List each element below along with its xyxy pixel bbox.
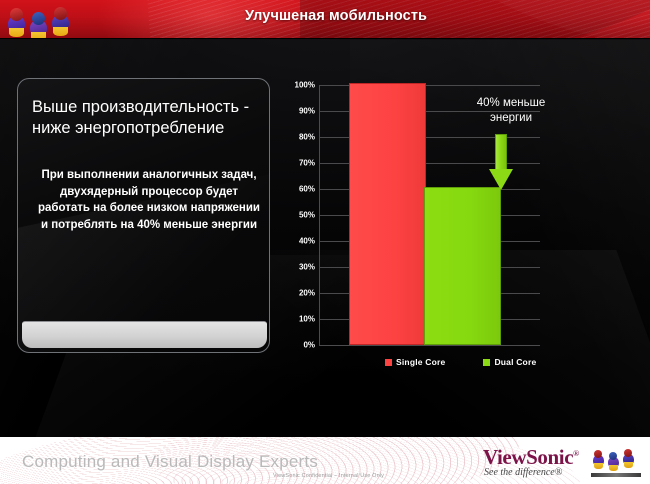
bird-right-icon bbox=[52, 7, 71, 38]
panel-base-bar bbox=[22, 321, 267, 348]
arrow-shaft bbox=[495, 134, 507, 170]
y-axis-tick-label: 0% bbox=[285, 341, 319, 350]
legend-label: Single Core bbox=[396, 357, 445, 367]
registered-mark: ® bbox=[573, 449, 579, 458]
x-axis-line bbox=[319, 345, 540, 346]
footer-bird-left-head bbox=[594, 450, 602, 458]
legend-item-single-core[interactable]: Single Core bbox=[385, 357, 445, 367]
legend-label: Dual Core bbox=[494, 357, 536, 367]
slide-footer: Computing and Visual Display Experts Vie… bbox=[0, 437, 650, 484]
bird-left-head bbox=[10, 8, 23, 21]
confidentiality-notice: ViewSonic Confidential – Internal Use On… bbox=[273, 473, 384, 479]
footer-bird-left-icon bbox=[593, 450, 605, 472]
y-axis-tick-label: 30% bbox=[285, 263, 319, 272]
slide-canvas: Улучшеная мобильность Выше производитель… bbox=[0, 0, 650, 484]
footer-bird-center-icon bbox=[608, 452, 620, 472]
legend-swatch bbox=[385, 359, 392, 366]
footer-bird-left-tail bbox=[594, 463, 603, 469]
footer-bird-right-tail bbox=[624, 462, 633, 468]
bird-left-tail bbox=[9, 28, 24, 37]
chart-legend: Single CoreDual Core bbox=[385, 357, 536, 367]
bird-right-tail bbox=[53, 27, 68, 36]
viewsonic-wordmark-text: ViewSonic bbox=[483, 445, 573, 469]
bar-dual-core bbox=[424, 187, 501, 345]
y-axis-ticks: 100%90%80%70%60%50%40%30%20%10%0% bbox=[283, 85, 319, 345]
footer-birds-perch bbox=[591, 473, 641, 477]
annotation-label: 40% меньше энергии bbox=[455, 96, 567, 126]
y-axis-tick-label: 60% bbox=[285, 185, 319, 194]
legend-swatch bbox=[483, 359, 490, 366]
viewsonic-birds-icon bbox=[6, 0, 84, 39]
viewsonic-tagline: See the difference® bbox=[484, 467, 562, 478]
bird-center-head bbox=[32, 12, 45, 25]
y-axis-tick-label: 40% bbox=[285, 237, 319, 246]
panel-paragraph: При выполнении аналогичных задач, двухяд… bbox=[38, 167, 260, 233]
bird-center-icon bbox=[30, 12, 49, 38]
y-axis-tick-label: 20% bbox=[285, 289, 319, 298]
header-bottom-rule bbox=[0, 38, 650, 39]
bar-single-core bbox=[349, 83, 426, 345]
content-panel: Выше производительность - ниже энергопот… bbox=[17, 78, 270, 353]
viewsonic-logo: ViewSonic® See the difference® bbox=[483, 445, 643, 479]
footer-bird-right-head bbox=[624, 449, 632, 457]
footer-tagline: Computing and Visual Display Experts bbox=[22, 452, 318, 472]
footer-bird-right-icon bbox=[623, 449, 635, 472]
down-arrow-icon bbox=[489, 134, 513, 190]
bird-right-head bbox=[54, 7, 67, 20]
y-axis-tick-label: 10% bbox=[285, 315, 319, 324]
y-axis-tick-label: 80% bbox=[285, 133, 319, 142]
y-axis-tick-label: 50% bbox=[285, 211, 319, 220]
footer-bird-center-head bbox=[609, 452, 617, 460]
bird-left-icon bbox=[8, 8, 27, 38]
footer-bird-center-tail bbox=[609, 465, 618, 471]
slide-title: Улучшеная мобильность bbox=[0, 8, 650, 24]
y-axis-tick-label: 70% bbox=[285, 159, 319, 168]
arrow-head bbox=[489, 169, 513, 190]
y-axis-tick-label: 90% bbox=[285, 107, 319, 116]
viewsonic-birds-footer-icon bbox=[591, 447, 641, 477]
y-axis-tick-label: 100% bbox=[285, 81, 319, 90]
panel-heading: Выше производительность - ниже энергопот… bbox=[32, 97, 260, 139]
legend-item-dual-core[interactable]: Dual Core bbox=[483, 357, 536, 367]
slide-header: Улучшеная мобильность bbox=[0, 0, 650, 39]
